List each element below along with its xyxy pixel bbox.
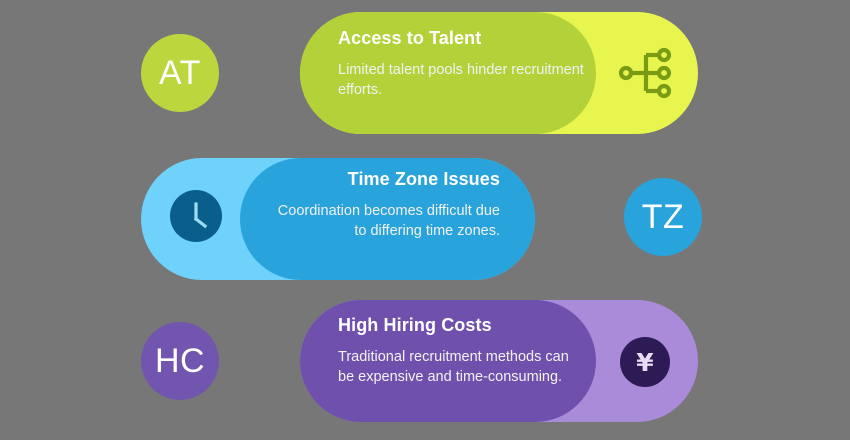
clock-icon-disc	[170, 190, 222, 242]
clock-icon	[170, 190, 222, 242]
badge-access-to-talent[interactable]: AT	[141, 34, 219, 112]
hierarchy-icon	[618, 43, 678, 103]
description-access-to-talent: Limited talent pools hinder recruitment …	[338, 60, 588, 101]
title-time-zone-issues: Time Zone Issues	[262, 169, 500, 191]
title-access-to-talent: Access to Talent	[338, 28, 588, 50]
badge-label-access-to-talent: AT	[159, 56, 201, 90]
infographic-item-high-hiring-costs: HC High Hiring Costs Traditional recruit…	[0, 290, 850, 440]
yen-currency-glyph: ¥	[636, 350, 653, 375]
infographic-canvas: AT Access to Talent Limited talent pools…	[0, 0, 850, 440]
text-block-high-hiring-costs: High Hiring Costs Traditional recruitmen…	[338, 315, 588, 388]
badge-time-zone-issues[interactable]: TZ	[624, 178, 702, 256]
description-high-hiring-costs: Traditional recruitment methods can be e…	[338, 347, 588, 388]
title-high-hiring-costs: High Hiring Costs	[338, 315, 588, 337]
badge-high-hiring-costs[interactable]: HC	[141, 322, 219, 400]
text-block-access-to-talent: Access to Talent Limited talent pools hi…	[338, 28, 588, 101]
yen-currency-icon: ¥	[620, 337, 670, 387]
yen-currency-icon-disc: ¥	[620, 337, 670, 387]
badge-label-time-zone-issues: TZ	[642, 200, 685, 234]
badge-label-high-hiring-costs: HC	[155, 344, 205, 378]
description-time-zone-issues: Coordination becomes difficult due to di…	[262, 201, 500, 242]
text-block-time-zone-issues: Time Zone Issues Coordination becomes di…	[262, 169, 500, 242]
infographic-item-access-to-talent: AT Access to Talent Limited talent pools…	[0, 0, 850, 145]
infographic-item-time-zone-issues: TZ Time Zone Issues Coordination becomes…	[0, 145, 850, 290]
